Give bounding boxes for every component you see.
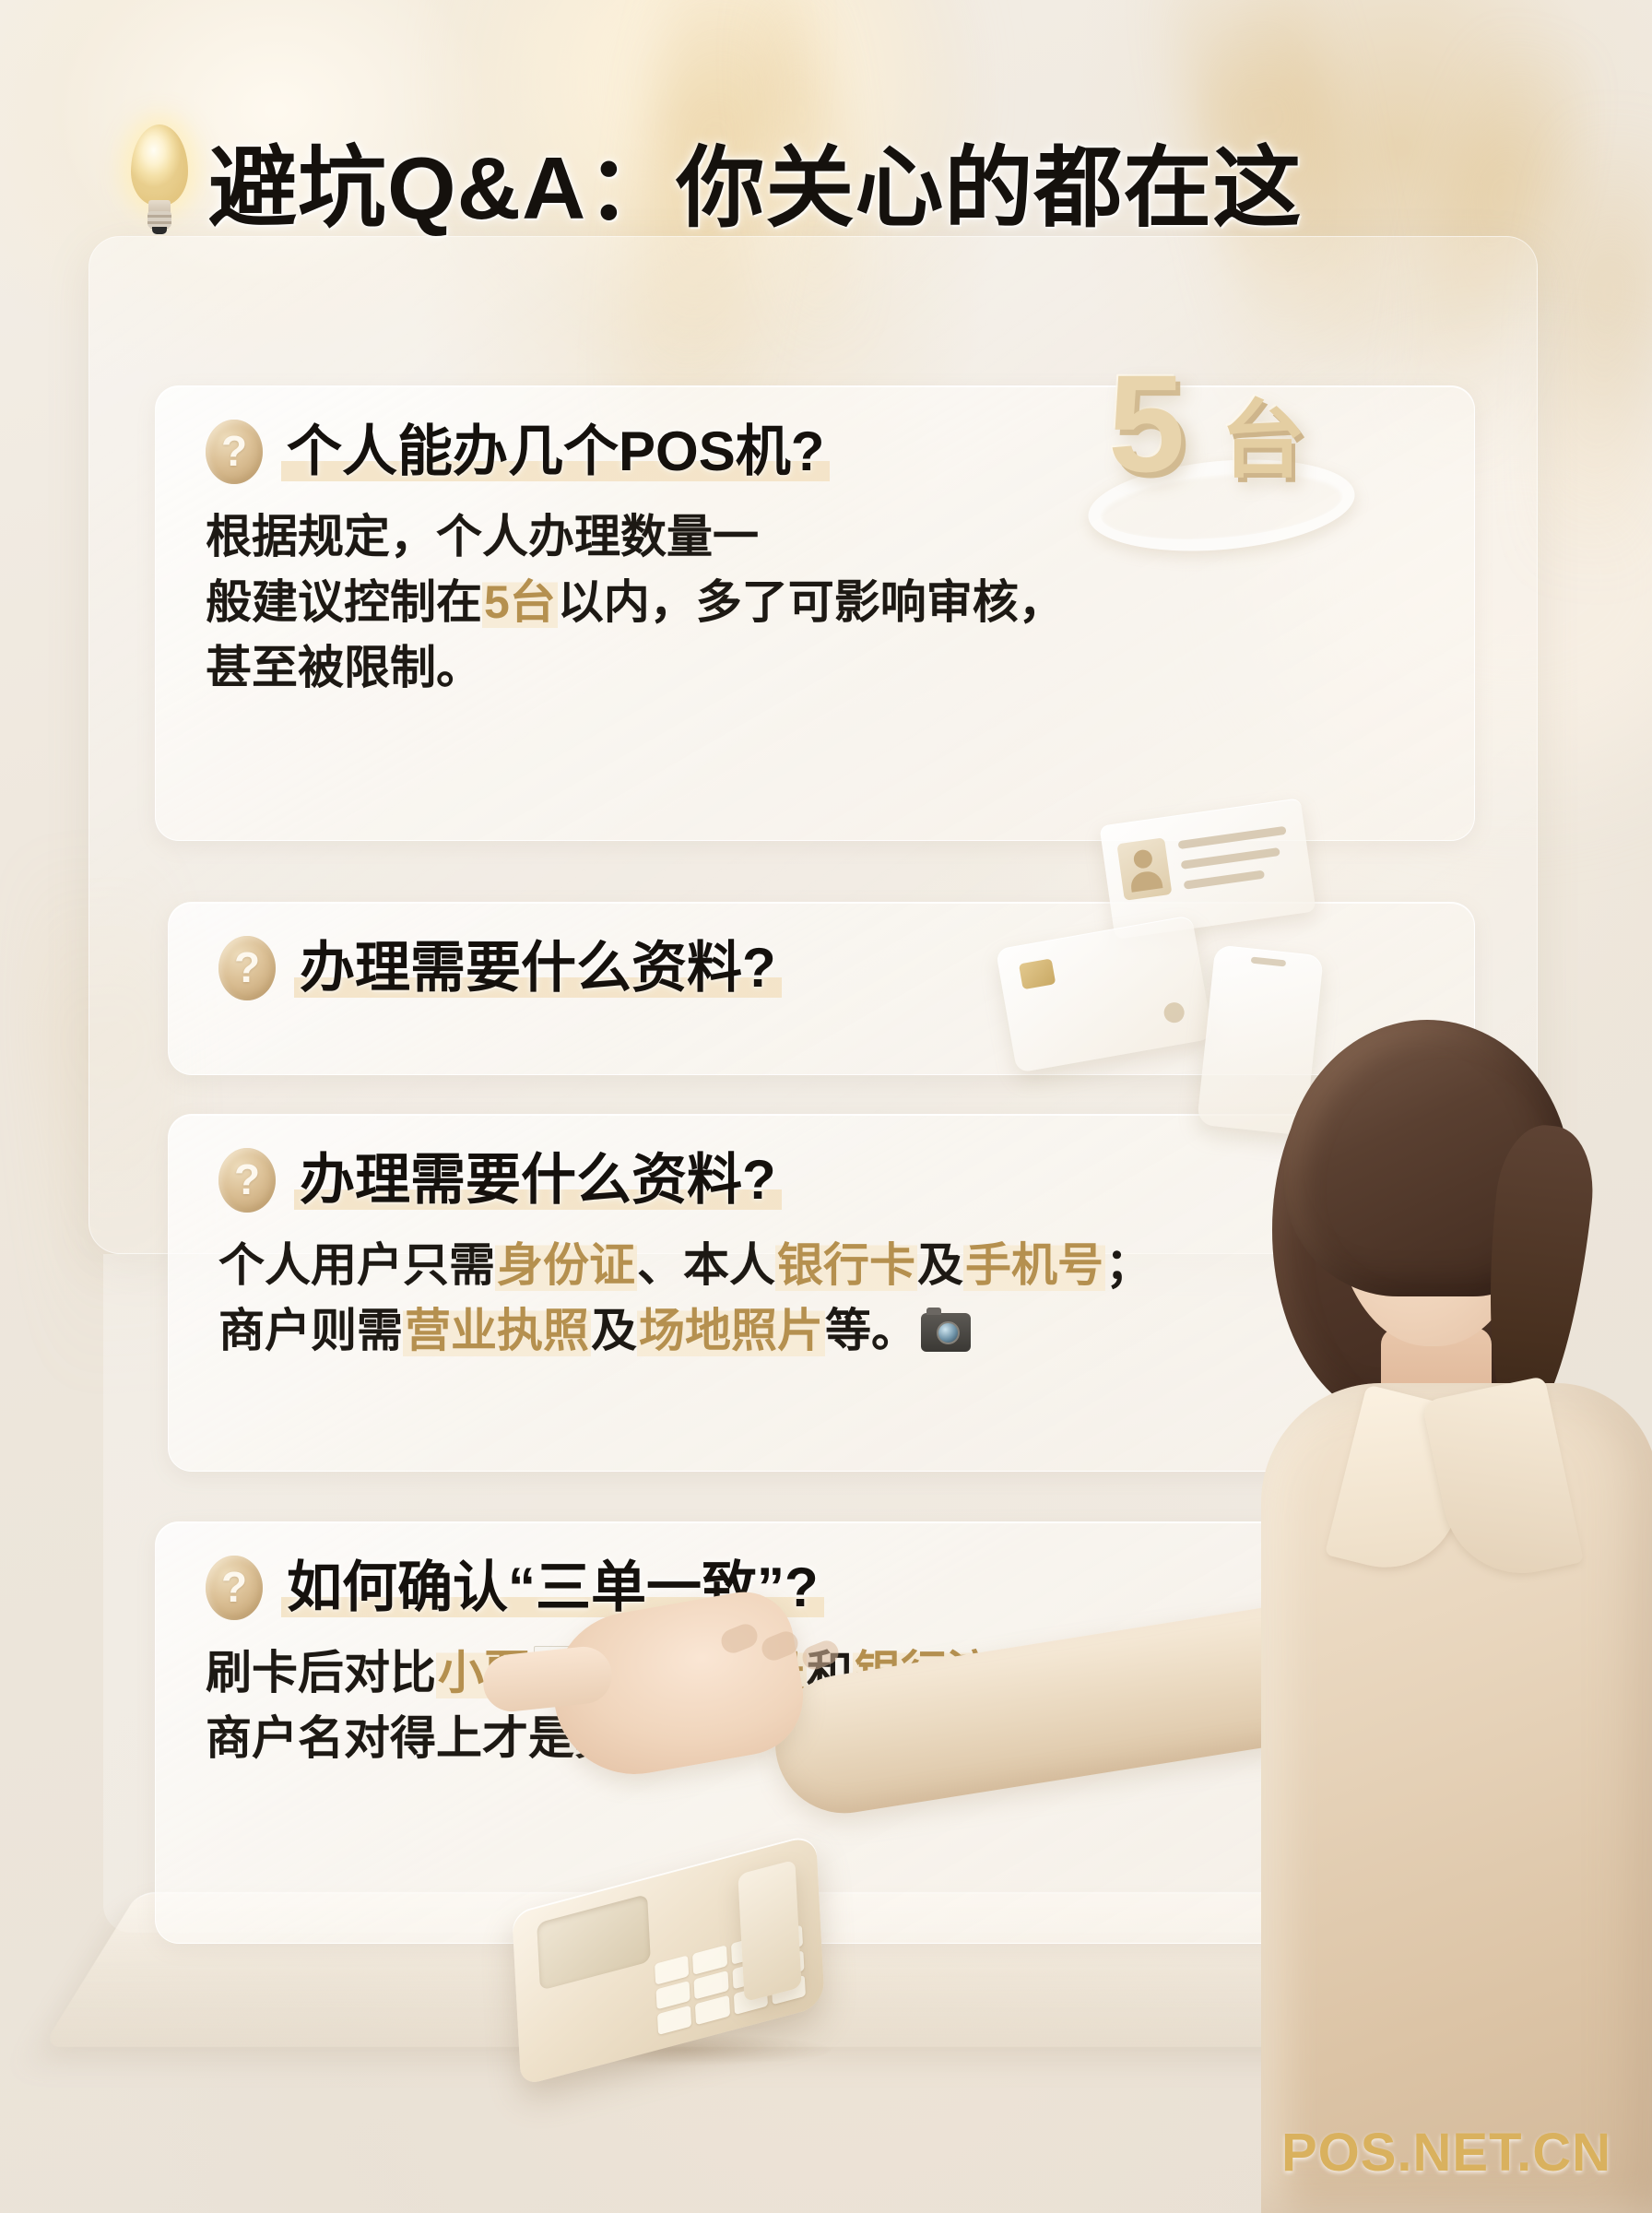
pos-terminal-card-slot bbox=[737, 1860, 801, 2003]
highlighted-term: 营业执照 bbox=[403, 1305, 591, 1356]
person-illustration bbox=[1163, 1014, 1652, 2213]
faq-card[interactable]: ? 个人能办几个POS机? 根据规定，个人办理数量一 般建议控制在5台以内，多了… bbox=[155, 385, 1475, 841]
page-title: 避坑Q&A：你关心的都在这 bbox=[208, 116, 1302, 244]
faq-question-row: ? 个人能办几个POS机? bbox=[156, 386, 1474, 484]
camera-icon bbox=[921, 1313, 971, 1352]
highlighted-term: 身份证 bbox=[495, 1239, 637, 1291]
lightbulb-icon bbox=[125, 123, 194, 231]
question-mark-icon: ? bbox=[218, 936, 276, 1000]
faq-answer-body: 根据规定，个人办理数量一 般建议控制在5台以内，多了可影响审核， 甚至被限制。 bbox=[156, 484, 1474, 701]
question-mark-icon: ? bbox=[206, 1556, 263, 1620]
highlighted-term: 手机号 bbox=[963, 1239, 1105, 1291]
question-mark-icon: ? bbox=[206, 420, 263, 484]
highlighted-term: 银行卡 bbox=[775, 1239, 917, 1291]
faq-answer-line: 甚至被限制。 bbox=[206, 635, 1474, 701]
pos-terminal-screen bbox=[537, 1894, 651, 1991]
highlighted-term: 5台 bbox=[482, 576, 558, 628]
faq-question-row: ? 办理需要什么资料? bbox=[169, 903, 1474, 1000]
question-mark-icon: ? bbox=[218, 1148, 276, 1213]
pos-terminal-illustration bbox=[516, 1835, 867, 2075]
site-watermark: POS.NET.CN bbox=[1281, 2122, 1611, 2183]
faq-answer-line: 般建议控制在5台以内，多了可影响审核， bbox=[206, 570, 1474, 635]
faq-question-text: 办理需要什么资料? bbox=[294, 939, 782, 999]
faq-question-text: 个人能办几个POS机? bbox=[281, 422, 830, 482]
page-header: 避坑Q&A：你关心的都在这 bbox=[0, 111, 1652, 249]
faq-answer-line: 根据规定，个人办理数量一 bbox=[206, 504, 1474, 570]
highlighted-term: 场地照片 bbox=[637, 1305, 825, 1356]
faq-question-text: 办理需要什么资料? bbox=[294, 1151, 782, 1211]
